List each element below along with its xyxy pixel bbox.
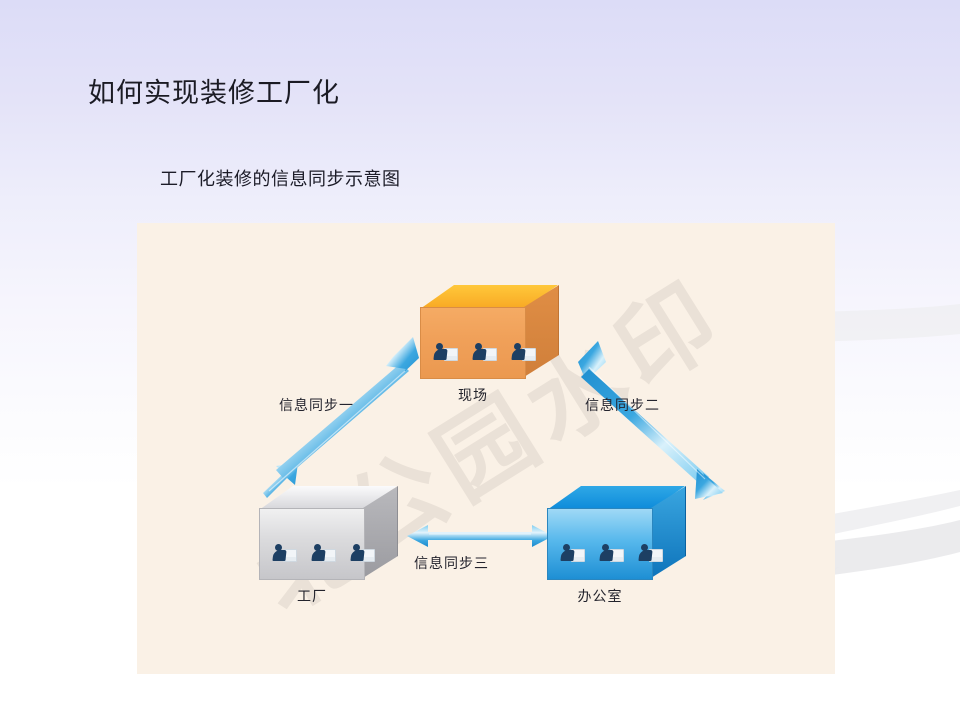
factory-people-group [273, 544, 373, 562]
diagram-caption: 工厂化装修的信息同步示意图 [160, 167, 401, 191]
person-icon [639, 544, 661, 562]
person-icon [351, 544, 373, 562]
diagram-panel: 北公园水印 [137, 223, 835, 674]
arrow-sync2 [578, 341, 725, 500]
connector-label-sync3: 信息同步三 [414, 553, 489, 573]
diagram-node-office[interactable]: 办公室 [547, 486, 685, 578]
person-icon [512, 343, 534, 361]
person-icon [273, 544, 295, 562]
connector-label-sync2: 信息同步二 [585, 395, 660, 415]
node-label-office: 办公室 [531, 586, 669, 606]
slide-canvas: 如何实现装修工厂化 工厂化装修的信息同步示意图 北公园水印 [0, 0, 960, 720]
person-icon [434, 343, 456, 361]
person-icon [561, 544, 583, 562]
arrow-sync1 [263, 337, 419, 498]
arrow-sync3 [407, 525, 553, 547]
diagram-node-factory[interactable]: 工厂 [259, 486, 397, 578]
node-label-site: 现场 [404, 385, 542, 405]
person-icon [600, 544, 622, 562]
site-people-group [434, 343, 534, 361]
diagram-node-site[interactable]: 现场 [420, 285, 558, 377]
person-icon [312, 544, 334, 562]
person-icon [473, 343, 495, 361]
page-title: 如何实现装修工厂化 [88, 76, 340, 110]
office-people-group [561, 544, 661, 562]
connector-label-sync1: 信息同步一 [279, 395, 354, 415]
node-label-factory: 工厂 [243, 586, 381, 606]
